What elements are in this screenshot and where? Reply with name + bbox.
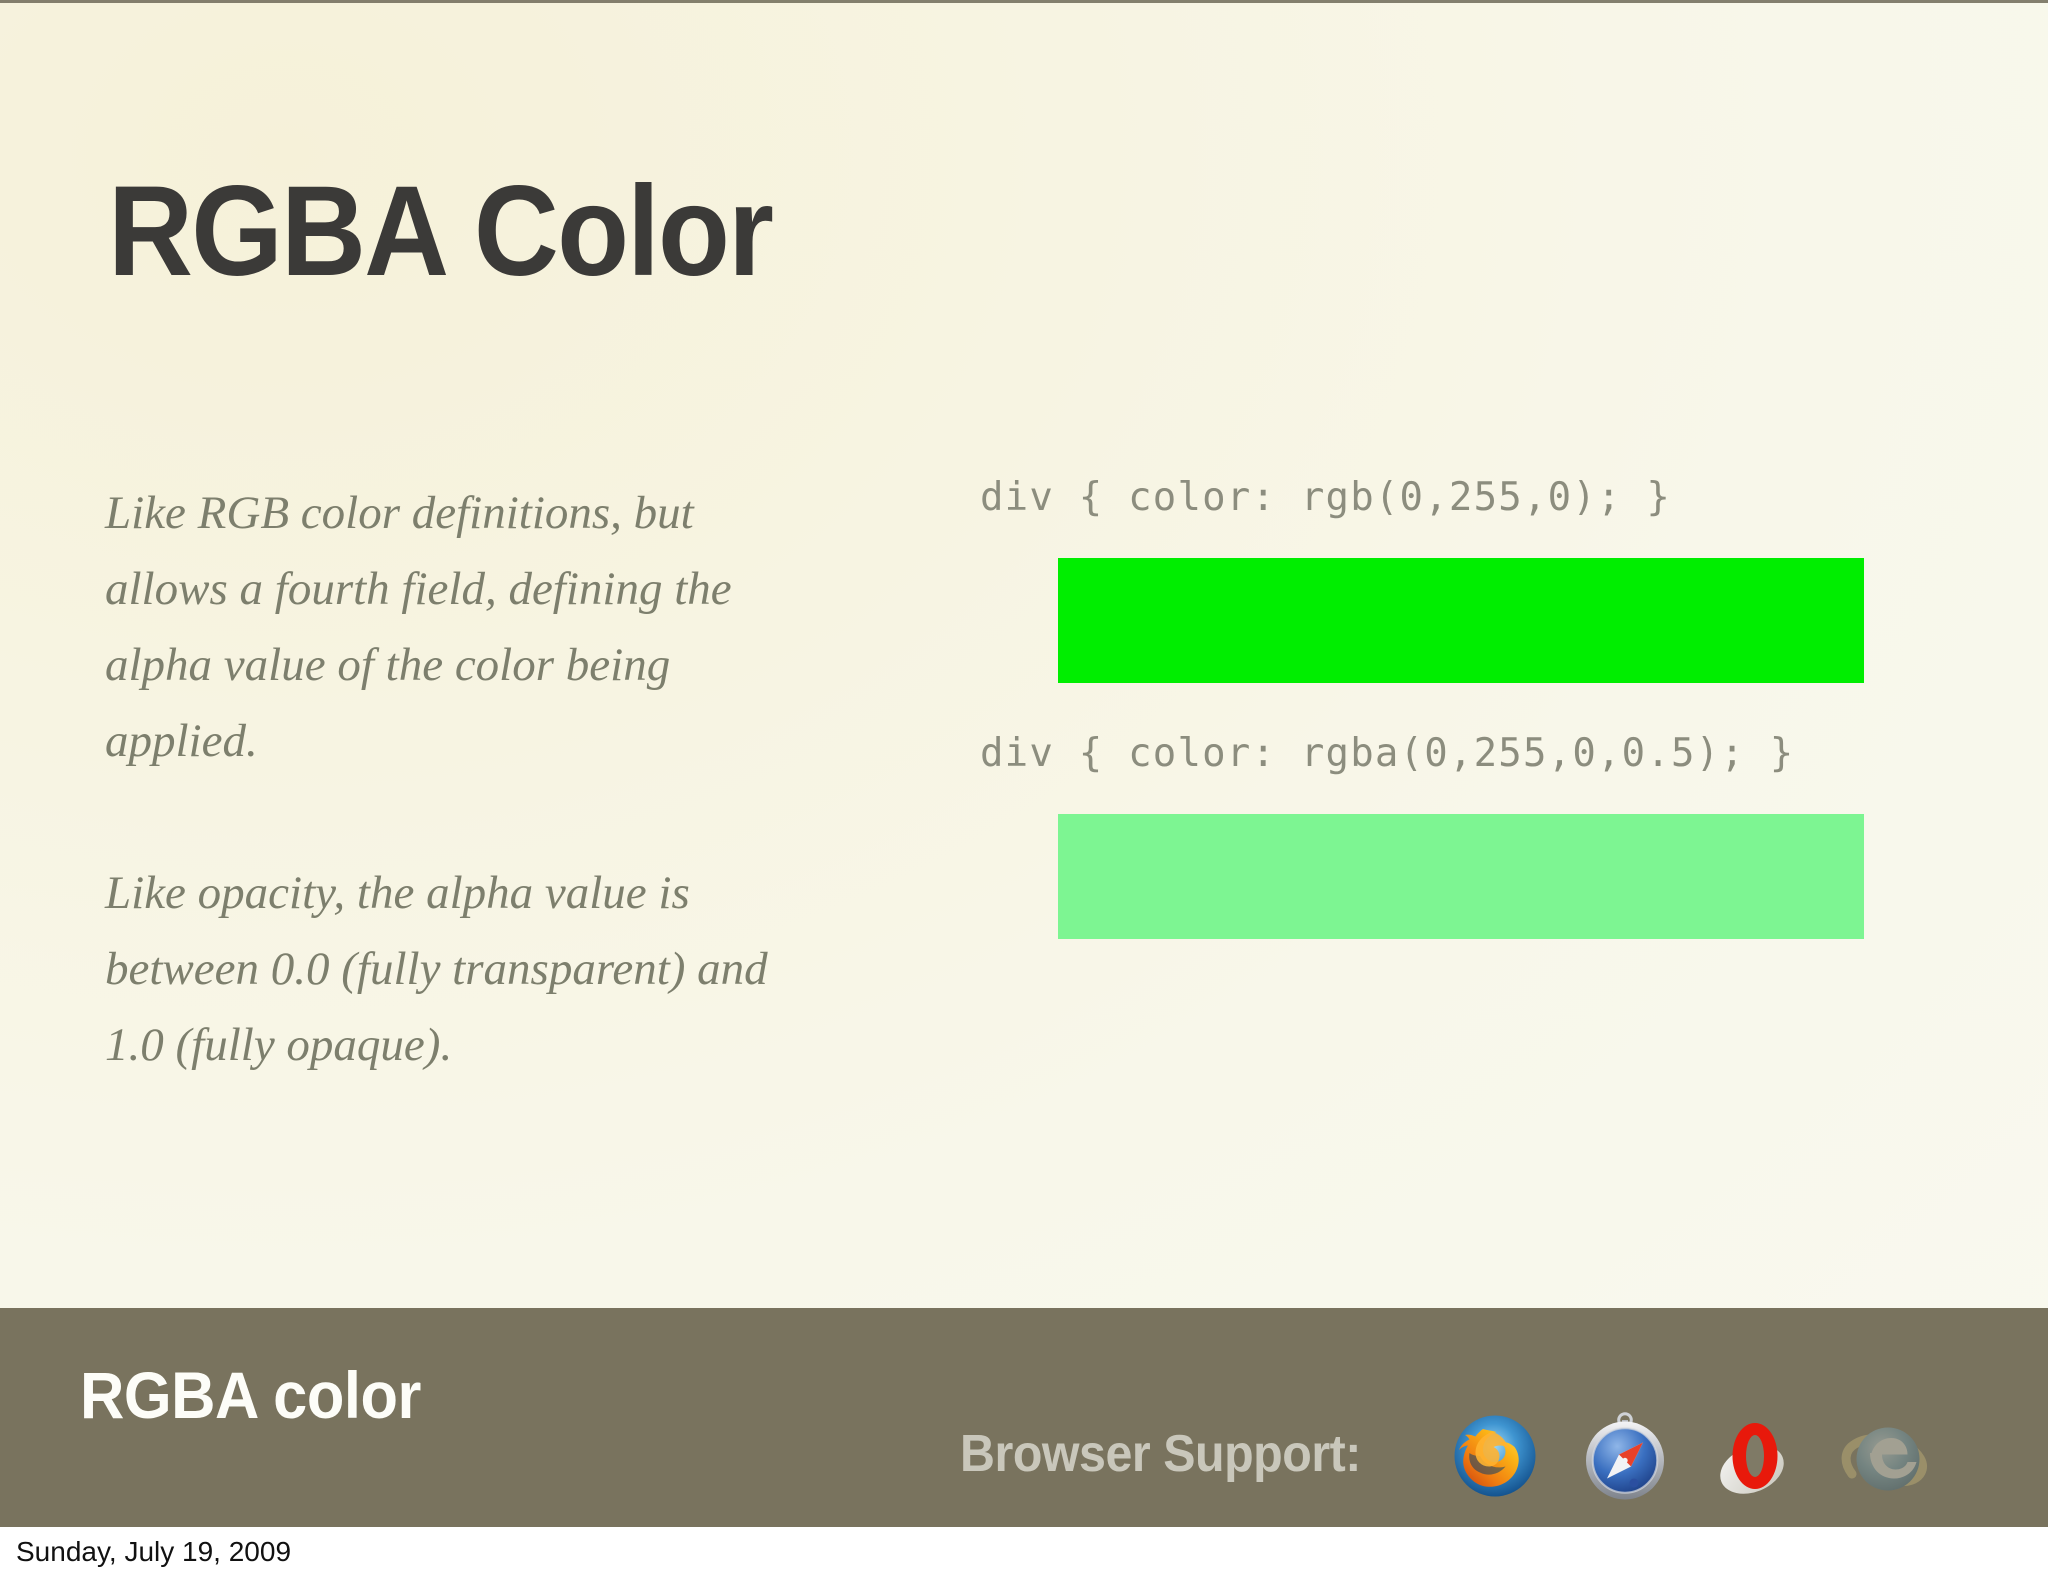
slide-canvas: RGBA Color Like RGB color definitions, b…: [0, 0, 2048, 1527]
page-title: RGBA Color: [108, 168, 772, 296]
date-strip: Sunday, July 19, 2009: [0, 1527, 2048, 1576]
firefox-icon: [1447, 1408, 1543, 1504]
browser-support-label: Browser Support:: [960, 1428, 1361, 1480]
slide-date: Sunday, July 19, 2009: [16, 1537, 291, 1567]
body-paragraph-1: Like RGB color definitions, but allows a…: [105, 475, 785, 779]
code-line-rgb: div { color: rgb(0,255,0); }: [980, 475, 1910, 521]
demo-column: div { color: rgb(0,255,0); } div { color…: [980, 475, 1910, 939]
code-line-rgba: div { color: rgba(0,255,0,0.5); }: [980, 731, 1910, 777]
footer-title: RGBA color: [80, 1362, 421, 1428]
body-column: Like RGB color definitions, but allows a…: [105, 475, 785, 1083]
body-paragraph-2: Like opacity, the alpha value is between…: [105, 855, 785, 1083]
demo-spacer: [980, 683, 1910, 731]
solid-green-swatch: [1058, 558, 1864, 683]
internet-explorer-icon: [1837, 1408, 1933, 1504]
safari-icon: [1577, 1408, 1673, 1504]
browser-support-group: Browser Support:: [960, 1408, 1933, 1504]
half-alpha-green-swatch: [1058, 814, 1864, 939]
opera-icon: [1707, 1408, 1803, 1504]
